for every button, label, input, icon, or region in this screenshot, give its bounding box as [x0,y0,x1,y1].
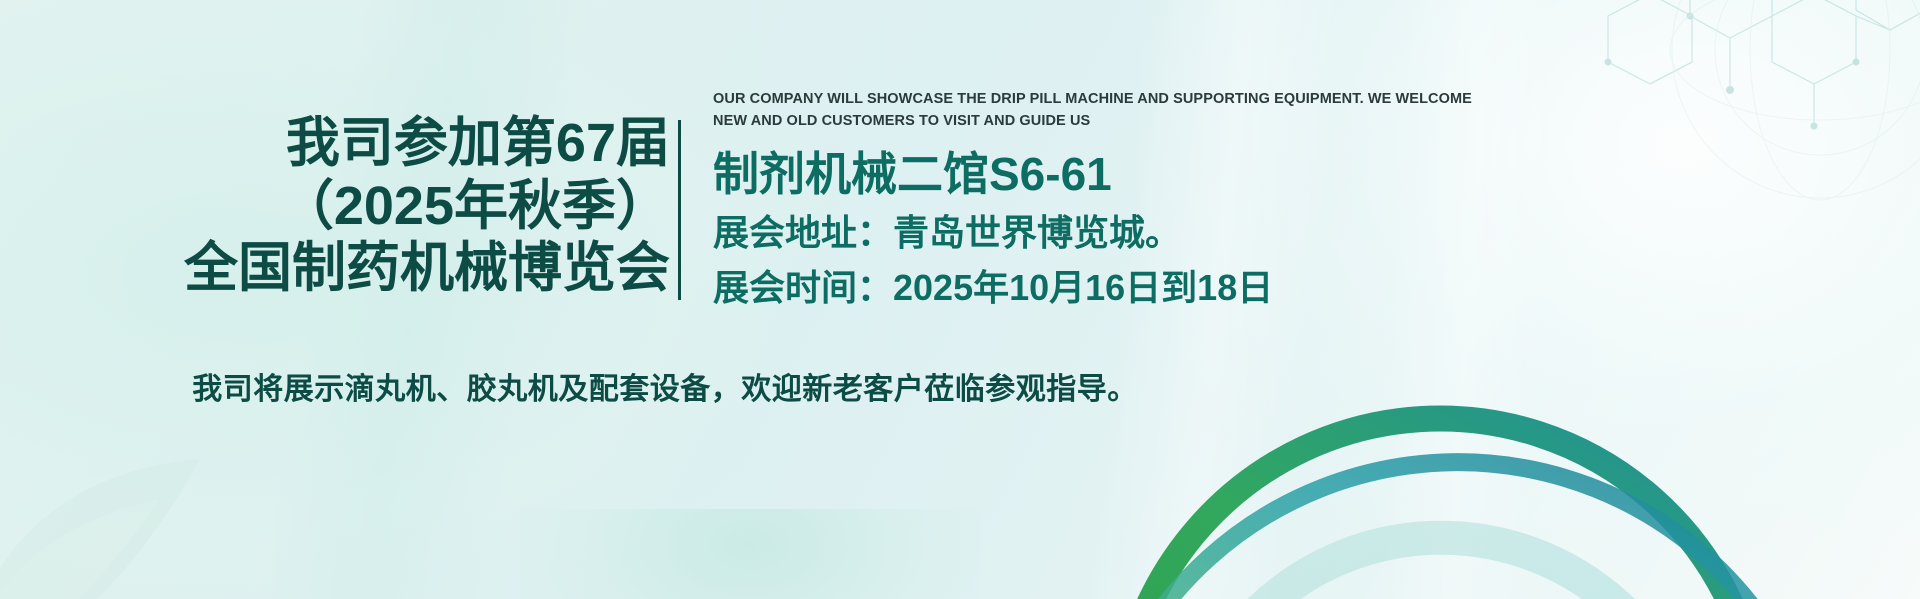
english-subtitle: OUR COMPANY WILL SHOWCASE THE DRIP PILL … [713,88,1473,133]
exhibition-date-line: 展会时间：2025年10月16日到18日 [713,265,1863,310]
right-info-block: OUR COMPANY WILL SHOWCASE THE DRIP PILL … [713,88,1863,310]
vertical-divider [678,120,681,300]
left-headline-block: 我司参加第67届 （2025年秋季） 全国制药机械博览会 [150,112,670,300]
banner-content: 我司参加第67届 （2025年秋季） 全国制药机械博览会 OUR COMPANY… [0,0,1920,599]
exhibition-banner: 我司参加第67届 （2025年秋季） 全国制药机械博览会 OUR COMPANY… [0,0,1920,599]
bottom-caption: 我司将展示滴丸机、胶丸机及配套设备，欢迎新老客户莅临参观指导。 [0,364,1330,408]
left-headline-line-1: 我司参加第67届 [150,112,670,175]
left-headline-line-2: （2025年秋季） [150,175,670,238]
hall-booth-title: 制剂机械二馆S6-61 [713,149,1863,200]
venue-address-line: 展会地址：青岛世界博览城。 [713,210,1863,255]
left-headline-line-3: 全国制药机械博览会 [150,237,670,300]
